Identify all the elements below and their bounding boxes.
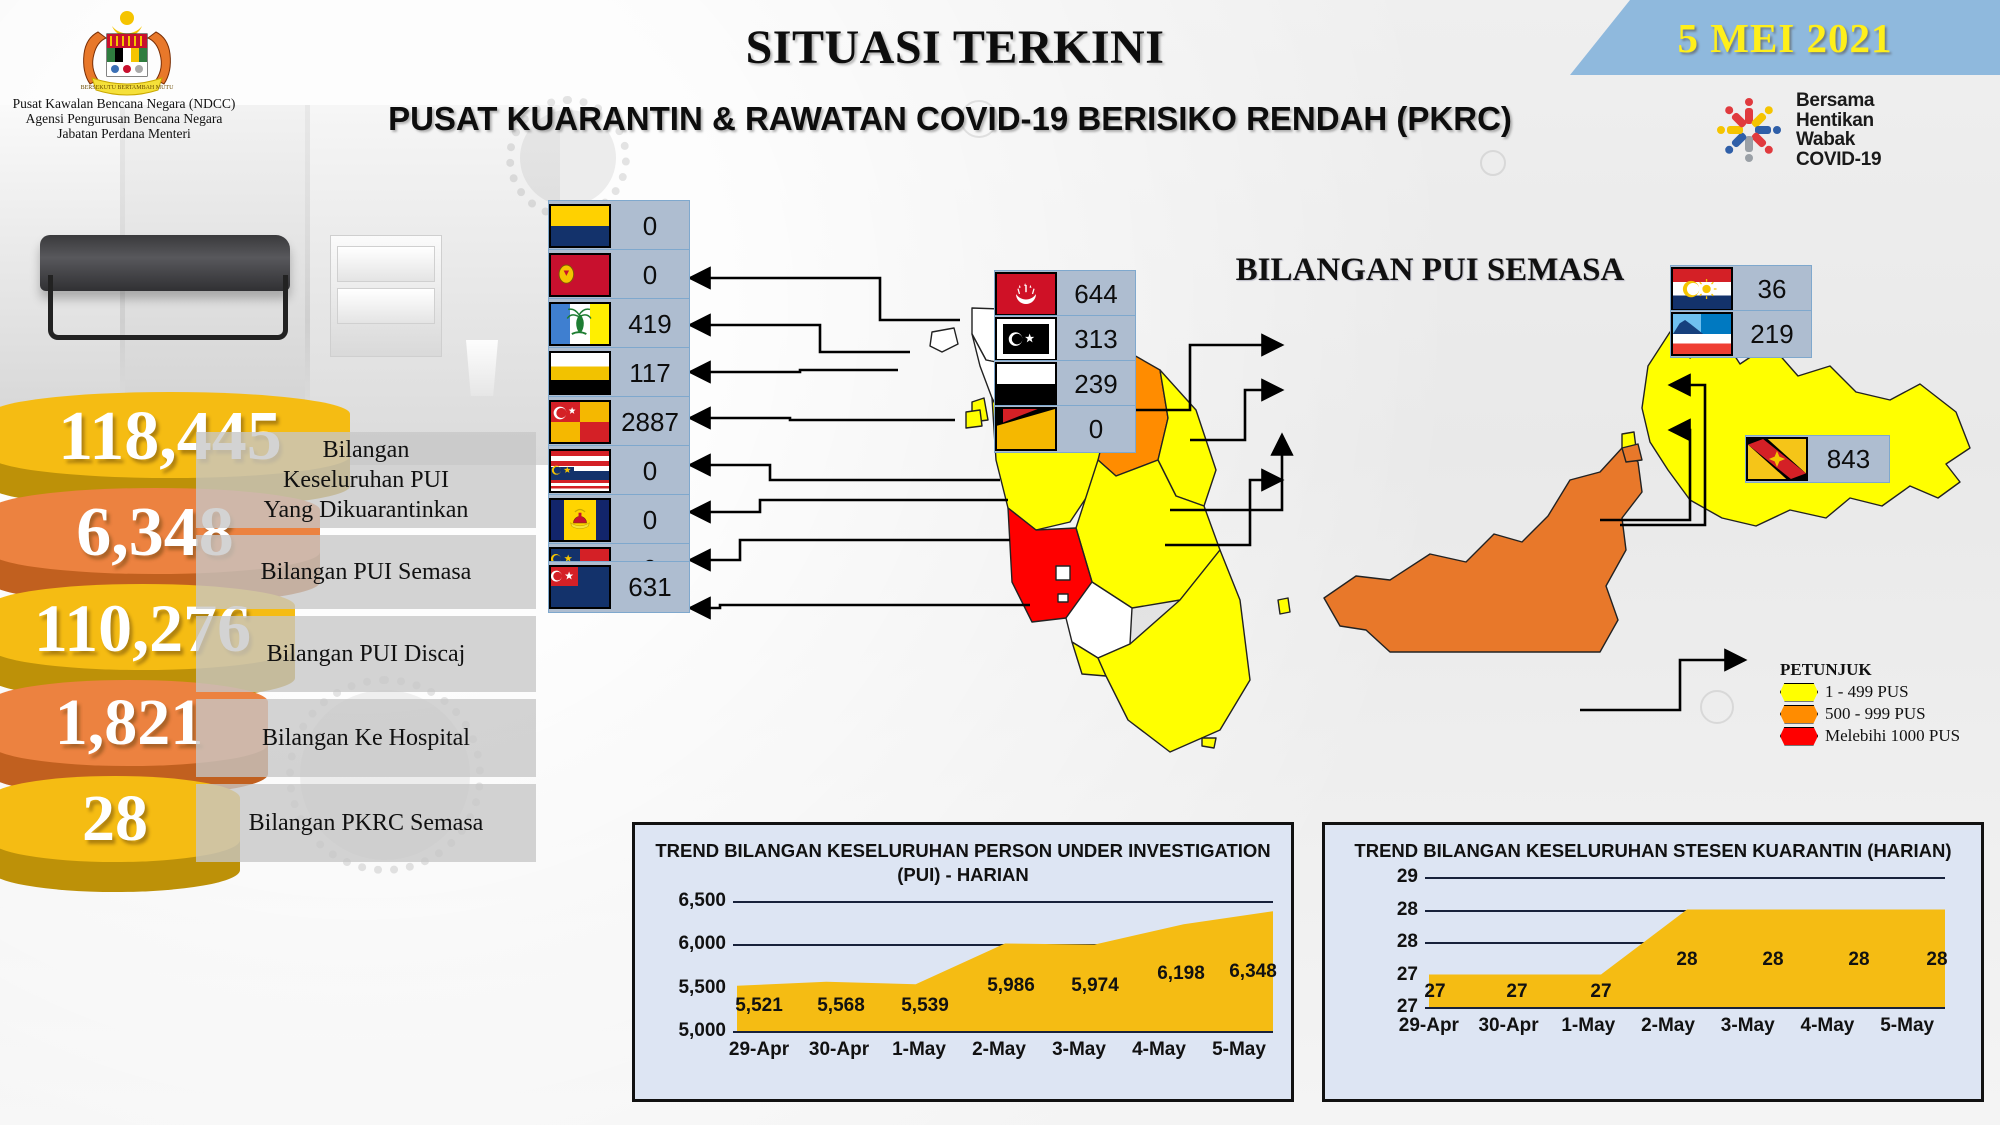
brand-line-3: Wabak — [1796, 130, 1881, 150]
chart2-xtick-5: 4-May — [1788, 1015, 1868, 1037]
chart2-label-3: 28 — [1676, 949, 1697, 971]
flag-putrajaya-icon — [549, 498, 611, 542]
chart-stesen-trend: TREND BILANGAN KESELURUHAN STESEN KUARAN… — [1322, 822, 1984, 1102]
state-box-penang[interactable]: 419 — [548, 298, 690, 350]
map-region-sarawak — [1324, 448, 1642, 652]
state-box-labuan[interactable]: 36 — [1670, 265, 1812, 313]
map-region-kedah-island — [930, 328, 958, 352]
legend-label-mid: 500 - 999 PUS — [1825, 704, 1926, 724]
map-region-penang-island — [966, 410, 982, 428]
date-text: 5 MEI 2021 — [1678, 14, 1893, 62]
agency-name: Pusat Kawalan Bencana Negara (NDCC) Agen… — [4, 96, 244, 141]
state-box-johor[interactable]: 631 — [548, 561, 690, 613]
chart2-xtick-6: 5-May — [1867, 1015, 1947, 1037]
state-value-kedah: 0 — [611, 260, 689, 291]
map-legend: PETUNJUK 1 - 499 PUS 500 - 999 PUS Meleb… — [1780, 660, 2000, 748]
chart1-ytick-0: 5,000 — [678, 1020, 733, 1042]
legend-swatch-mid — [1780, 705, 1818, 724]
chart1-xtick-5: 4-May — [1119, 1039, 1199, 1061]
chart1-ytick-3: 6,500 — [678, 890, 733, 912]
chart1-xtick-1: 30-Apr — [799, 1039, 879, 1061]
legend-item-high: Melebihi 1000 PUS — [1780, 726, 2000, 746]
state-box-kelantan[interactable]: 644 — [994, 270, 1136, 318]
east-malaysia-map — [1270, 330, 1990, 660]
state-value-putrajaya: 0 — [611, 505, 689, 536]
chart-title-2: TREND BILANGAN KESELURUHAN STESEN KUARAN… — [1325, 825, 1981, 863]
stat-label-2: Bilangan PUI Discaj — [196, 616, 536, 692]
state-value-pahang: 239 — [1057, 369, 1135, 400]
chart1-ytick-1: 5,500 — [678, 977, 733, 999]
chart2-area — [1425, 877, 1945, 1007]
chart2-label-0: 27 — [1424, 981, 1445, 1003]
infographic-canvas: BERSEKUTU BERTAMBAH MUTU Pusat Kawalan B… — [0, 0, 2000, 1125]
bubble-decor — [1480, 150, 1506, 176]
chart2-label-5: 28 — [1848, 949, 1869, 971]
chart1-xtick-3: 2-May — [959, 1039, 1039, 1061]
brand-wordmark: Bersama Hentikan Wabak COVID-19 — [1796, 91, 1881, 169]
flag-perlis-icon — [549, 204, 611, 248]
state-box-putrajaya[interactable]: 0 — [548, 494, 690, 546]
state-box-perlis[interactable]: 0 — [548, 200, 690, 252]
chart1-label-6: 6,348 — [1229, 961, 1277, 983]
date-banner: 5 MEI 2021 — [1570, 0, 2000, 75]
stat-label-0: Bilangan Keseluruhan PUI Yang Dikuaranti… — [196, 432, 536, 528]
chart1-gridline-bottom — [733, 1031, 1273, 1033]
bersama-hentikan-wabak-logo: Bersama Hentikan Wabak COVID-19 — [1712, 90, 1982, 170]
summary-labels: Bilangan Keseluruhan PUI Yang Dikuaranti… — [196, 432, 536, 869]
chart2-ytick-4: 29 — [1397, 866, 1425, 888]
state-value-sarawak: 843 — [1808, 444, 1889, 475]
chart2-label-1: 27 — [1506, 981, 1527, 1003]
flag-johor-icon — [549, 565, 611, 609]
agency-line-1: Pusat Kawalan Bencana Negara (NDCC) — [4, 96, 244, 111]
page-subtitle: PUSAT KUARANTIN & RAWATAN COVID-19 BERIS… — [300, 100, 1600, 138]
agency-line-3: Jabatan Perdana Menteri — [4, 126, 244, 141]
chart2-xtick-1: 30-Apr — [1469, 1015, 1549, 1037]
state-box-melaka[interactable]: 0 — [994, 405, 1136, 453]
hospital-bed — [40, 235, 290, 291]
state-value-terengganu: 313 — [1057, 324, 1135, 355]
chart2-xtick-0: 29-Apr — [1389, 1015, 1469, 1037]
people-circle-icon — [1712, 93, 1786, 167]
flag-melaka-icon — [995, 407, 1057, 451]
state-box-perak[interactable]: 117 — [548, 347, 690, 399]
chart2-xtick-2: 1-May — [1548, 1015, 1628, 1037]
chart2-ytick-0: 27 — [1397, 996, 1425, 1018]
chart-plot-2: 29 28 28 27 27 27 27 27 28 28 28 28 — [1425, 877, 1945, 1007]
state-value-melaka: 0 — [1057, 414, 1135, 445]
chart2-ytick-3: 28 — [1397, 899, 1425, 921]
chart1-label-3: 5,986 — [987, 975, 1035, 997]
state-value-kelantan: 644 — [1057, 279, 1135, 310]
chart1-label-5: 6,198 — [1157, 963, 1205, 985]
legend-item-low: 1 - 499 PUS — [1780, 682, 2000, 702]
stat-label-3: Bilangan Ke Hospital — [196, 699, 536, 777]
chart2-xtick-3: 2-May — [1628, 1015, 1708, 1037]
flag-selangor-icon — [549, 400, 611, 444]
flag-perak-icon — [549, 351, 611, 395]
stat-label-4: Bilangan PKRC Semasa — [196, 784, 536, 862]
state-value-perak: 117 — [611, 358, 689, 389]
state-value-sabah: 219 — [1733, 319, 1811, 350]
chart1-xtick-4: 3-May — [1039, 1039, 1119, 1061]
brand-line-4: COVID-19 — [1796, 150, 1881, 170]
state-box-sarawak[interactable]: 843 — [1745, 435, 1890, 483]
chart1-ytick-2: 6,000 — [678, 933, 733, 955]
section-title: BILANGAN PUI SEMASA — [1150, 252, 1710, 289]
map-region-kuala-lumpur — [1056, 566, 1070, 580]
chart-plot-1: 6,500 6,000 5,500 5,000 5,521 5,568 5,53… — [733, 901, 1273, 1031]
map-region-singapore — [1202, 738, 1216, 748]
flag-terengganu-icon — [995, 317, 1057, 361]
chart2-ytick-2: 28 — [1397, 931, 1425, 953]
malaysia-coat-of-arms: BERSEKUTU BERTAMBAH MUTU — [52, 6, 202, 102]
map-region-putrajaya — [1058, 594, 1068, 602]
state-value-selangor: 2887 — [611, 407, 689, 438]
state-box-kuala-lumpur[interactable]: 0 — [548, 445, 690, 497]
page-title: SITUASI TERKINI — [490, 20, 1420, 75]
chart2-gridline-bottom — [1425, 1007, 1945, 1009]
brand-line-1: Bersama — [1796, 91, 1881, 111]
agency-line-2: Agensi Pengurusan Bencana Negara — [4, 111, 244, 126]
legend-item-mid: 500 - 999 PUS — [1780, 704, 2000, 724]
chart1-label-0: 5,521 — [735, 995, 783, 1017]
flag-kelantan-icon — [995, 272, 1057, 316]
svg-text:BERSEKUTU BERTAMBAH MUTU: BERSEKUTU BERTAMBAH MUTU — [81, 85, 174, 91]
legend-swatch-low — [1780, 683, 1818, 702]
chart1-label-2: 5,539 — [901, 995, 949, 1017]
chart1-xtick-0: 29-Apr — [719, 1039, 799, 1061]
flag-kedah-icon — [549, 253, 611, 297]
flag-sabah-icon — [1671, 312, 1733, 356]
chart2-xtick-4: 3-May — [1708, 1015, 1788, 1037]
chart1-label-4: 5,974 — [1071, 975, 1119, 997]
state-value-kuala-lumpur: 0 — [611, 456, 689, 487]
state-box-kedah[interactable]: 0 — [548, 249, 690, 301]
legend-title: PETUNJUK — [1780, 660, 2000, 680]
state-value-johor: 631 — [611, 572, 689, 603]
bubble-decor — [1700, 690, 1734, 724]
flag-kuala-lumpur-icon — [549, 449, 611, 493]
stat-label-1: Bilangan PUI Semasa — [196, 535, 536, 609]
chart-pui-trend: TREND BILANGAN KESELURUHAN PERSON UNDER … — [632, 822, 1294, 1102]
flag-sarawak-icon — [1746, 437, 1808, 481]
legend-label-low: 1 - 499 PUS — [1825, 682, 1909, 702]
state-value-perlis: 0 — [611, 211, 689, 242]
flag-pahang-icon — [995, 362, 1057, 406]
chart2-ytick-1: 27 — [1397, 964, 1425, 986]
flag-penang-icon — [549, 302, 611, 346]
flag-labuan-icon — [1671, 267, 1733, 311]
chart1-xtick-2: 1-May — [879, 1039, 959, 1061]
legend-swatch-high — [1780, 727, 1818, 746]
state-box-terengganu[interactable]: 313 — [994, 315, 1136, 363]
map-region-sabah — [1642, 332, 1970, 526]
state-box-pahang[interactable]: 239 — [994, 360, 1136, 408]
state-box-selangor[interactable]: 2887 — [548, 396, 690, 448]
state-box-sabah[interactable]: 219 — [1670, 310, 1812, 358]
brand-line-2: Hentikan — [1796, 111, 1881, 131]
state-value-labuan: 36 — [1733, 274, 1811, 305]
state-value-penang: 419 — [611, 309, 689, 340]
chart2-label-6: 28 — [1926, 949, 1947, 971]
legend-label-high: Melebihi 1000 PUS — [1825, 726, 1960, 746]
chart2-label-4: 28 — [1762, 949, 1783, 971]
cabinet — [330, 235, 442, 357]
chart-title-1: TREND BILANGAN KESELURUHAN PERSON UNDER … — [635, 825, 1291, 887]
chart2-label-2: 27 — [1590, 981, 1611, 1003]
chart2-xaxis: 29-Apr 30-Apr 1-May 2-May 3-May 4-May 5-… — [1389, 1015, 1947, 1037]
map-region-brunei — [1622, 444, 1642, 462]
chart1-xtick-6: 5-May — [1199, 1039, 1279, 1061]
chart1-label-1: 5,568 — [817, 995, 865, 1017]
chart1-xaxis: 29-Apr 30-Apr 1-May 2-May 3-May 4-May 5-… — [719, 1039, 1279, 1061]
